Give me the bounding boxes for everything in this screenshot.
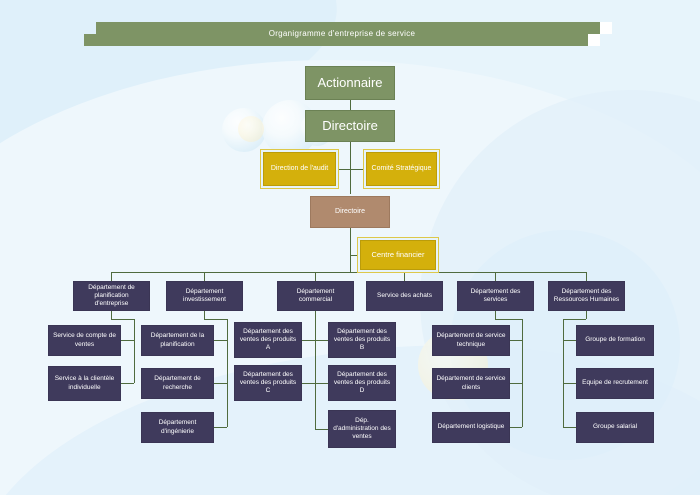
node-service-technique[interactable]: Département de service technique: [432, 325, 510, 356]
node-directoire-mid-label: Directoire: [314, 208, 386, 217]
connector-branch-clientele: [121, 383, 134, 384]
node-service-achats-label: Service des achats: [370, 292, 439, 300]
node-dep-ingenierie[interactable]: Département d'ingénierie: [141, 412, 214, 443]
node-groupe-salarial[interactable]: Groupe salarial: [576, 412, 654, 443]
chart-title-banner: Organigramme d'entreprise de service: [96, 22, 588, 46]
node-dep-planification-entreprise[interactable]: Département de planification d'entrepris…: [73, 281, 150, 311]
node-comite-strategique-label: Comité Stratégique: [370, 165, 433, 174]
node-dep-rh-label: Département des Ressources Humaines: [552, 288, 621, 304]
node-direction-audit[interactable]: Direction de l'audit: [263, 152, 336, 186]
connector-side-planification: [134, 319, 135, 383]
connector-drop-services: [495, 272, 496, 281]
node-dep-logistique-label: Département logistique: [436, 423, 506, 431]
node-service-compte-ventes-label: Service de compte de ventes: [52, 332, 117, 348]
node-service-achats[interactable]: Service des achats: [366, 281, 443, 311]
connector-branch-recrutement: [563, 383, 576, 384]
node-groupe-salarial-label: Groupe salarial: [580, 423, 650, 431]
node-dep-services-label: Département des services: [461, 288, 530, 304]
node-direction-audit-label: Direction de l'audit: [267, 165, 332, 174]
connector-branch-recherche: [214, 383, 227, 384]
connector-actionnaire-directoire: [350, 100, 351, 110]
node-groupe-formation[interactable]: Groupe de formation: [576, 325, 654, 356]
connector-drop-investissement: [204, 272, 205, 281]
connector-branch-ingenierie: [214, 427, 227, 428]
node-dep-investissement-label: Département investissement: [170, 288, 239, 304]
connector-trunk-services: [495, 311, 496, 319]
node-ventes-c-label: Département des ventes des produits C: [238, 371, 298, 395]
node-ventes-b-label: Département des ventes des produits B: [332, 328, 392, 352]
node-ventes-d[interactable]: Département des ventes des produits D: [328, 365, 396, 401]
node-dep-logistique[interactable]: Département logistique: [432, 412, 510, 443]
connector-drop-planification: [111, 272, 112, 281]
connector-branch-ventes-c: [302, 383, 316, 384]
bubble-decoration-1: [222, 108, 266, 152]
connector-trunk-commercial: [315, 311, 316, 429]
connector-directoire-trunk: [350, 142, 351, 194]
connector-trunk-planification: [111, 311, 112, 319]
node-ventes-d-label: Département des ventes des produits D: [332, 371, 392, 395]
connector-branch-salarial: [563, 427, 576, 428]
connector-side-rh: [563, 319, 564, 427]
node-dep-la-planification-label: Département de la planification: [145, 332, 210, 348]
node-dep-la-planification[interactable]: Département de la planification: [141, 325, 214, 356]
node-dep-ingenierie-label: Département d'ingénierie: [145, 419, 210, 435]
connector-span-planification: [111, 319, 134, 320]
node-groupe-formation-label: Groupe de formation: [580, 336, 650, 344]
connector-audit-right: [350, 169, 366, 170]
bubble-decoration-4: [238, 116, 264, 142]
node-service-clients[interactable]: Département de service clients: [432, 368, 510, 399]
connector-audit-left: [336, 169, 351, 170]
node-dep-commercial-label: Département commercial: [281, 288, 350, 304]
connector-span-investissement: [204, 319, 227, 320]
banner-checker-4: [84, 34, 96, 46]
node-dep-recherche-label: Département de recherche: [145, 375, 210, 391]
connector-branch-logistique: [510, 427, 522, 428]
connector-directoire-mid-trunk: [350, 228, 351, 272]
node-dep-planification-entreprise-label: Département de planification d'entrepris…: [77, 284, 146, 308]
node-dep-services[interactable]: Département des services: [457, 281, 534, 311]
node-centre-financier[interactable]: Centre financier: [360, 240, 436, 270]
node-dep-recherche[interactable]: Département de recherche: [141, 368, 214, 399]
connector-branch-ventes-a: [302, 340, 316, 341]
connector-branch-formation: [563, 340, 576, 341]
connector-trunk-investissement: [204, 311, 205, 319]
connector-drop-rh: [586, 272, 587, 281]
connector-branch-ventes-b: [315, 340, 329, 341]
node-directoire-top-label: Directoire: [309, 118, 391, 134]
node-directoire-mid[interactable]: Directoire: [310, 196, 390, 228]
node-admin-ventes-label: Dép. d'administration des ventes: [332, 417, 392, 441]
connector-branch-compte-ventes: [121, 340, 134, 341]
node-ventes-a-label: Département des ventes des produits A: [238, 328, 298, 352]
node-dep-investissement[interactable]: Département investissement: [166, 281, 243, 311]
node-equipe-recrutement[interactable]: Equipe de recrutement: [576, 368, 654, 399]
banner-checker-10: [600, 22, 612, 34]
banner-checker-9: [588, 22, 600, 34]
node-actionnaire[interactable]: Actionnaire: [305, 66, 395, 100]
node-ventes-a[interactable]: Département des ventes des produits A: [234, 322, 302, 358]
connector-branch-la-planification: [214, 340, 227, 341]
connector-trunk-rh: [586, 311, 587, 319]
node-dep-rh[interactable]: Département des Ressources Humaines: [548, 281, 625, 311]
node-service-clientele[interactable]: Service à la clientèle individuelle: [48, 366, 121, 401]
node-comite-strategique[interactable]: Comité Stratégique: [366, 152, 437, 186]
connector-span-services: [495, 319, 522, 320]
node-dep-commercial[interactable]: Département commercial: [277, 281, 354, 311]
connector-side-services: [522, 319, 523, 427]
page-title: Organigramme d'entreprise de service: [96, 22, 588, 46]
connector-span-rh: [563, 319, 586, 320]
connector-drop-achats: [404, 272, 405, 281]
node-service-compte-ventes[interactable]: Service de compte de ventes: [48, 325, 121, 356]
node-service-technique-label: Département de service technique: [436, 332, 506, 348]
node-service-clients-label: Département de service clients: [436, 375, 506, 391]
node-centre-financier-label: Centre financier: [364, 250, 432, 259]
connector-branch-technique: [510, 340, 522, 341]
connector-branch-clients: [510, 383, 522, 384]
node-admin-ventes[interactable]: Dép. d'administration des ventes: [328, 410, 396, 448]
banner-checker-13: [588, 34, 600, 46]
connector-department-bus: [111, 272, 586, 273]
node-actionnaire-label: Actionnaire: [309, 75, 391, 91]
connector-drop-commercial: [315, 272, 316, 281]
connector-side-investissement: [227, 319, 228, 427]
node-ventes-b[interactable]: Département des ventes des produits B: [328, 322, 396, 358]
node-ventes-c[interactable]: Département des ventes des produits C: [234, 365, 302, 401]
node-service-clientele-label: Service à la clientèle individuelle: [52, 375, 117, 391]
node-directoire-top[interactable]: Directoire: [305, 110, 395, 142]
connector-branch-ventes-d: [315, 383, 329, 384]
org-chart-canvas: Organigramme d'entreprise de service: [0, 0, 700, 495]
connector-branch-admin-ventes: [315, 429, 329, 430]
node-equipe-recrutement-label: Equipe de recrutement: [580, 379, 650, 387]
